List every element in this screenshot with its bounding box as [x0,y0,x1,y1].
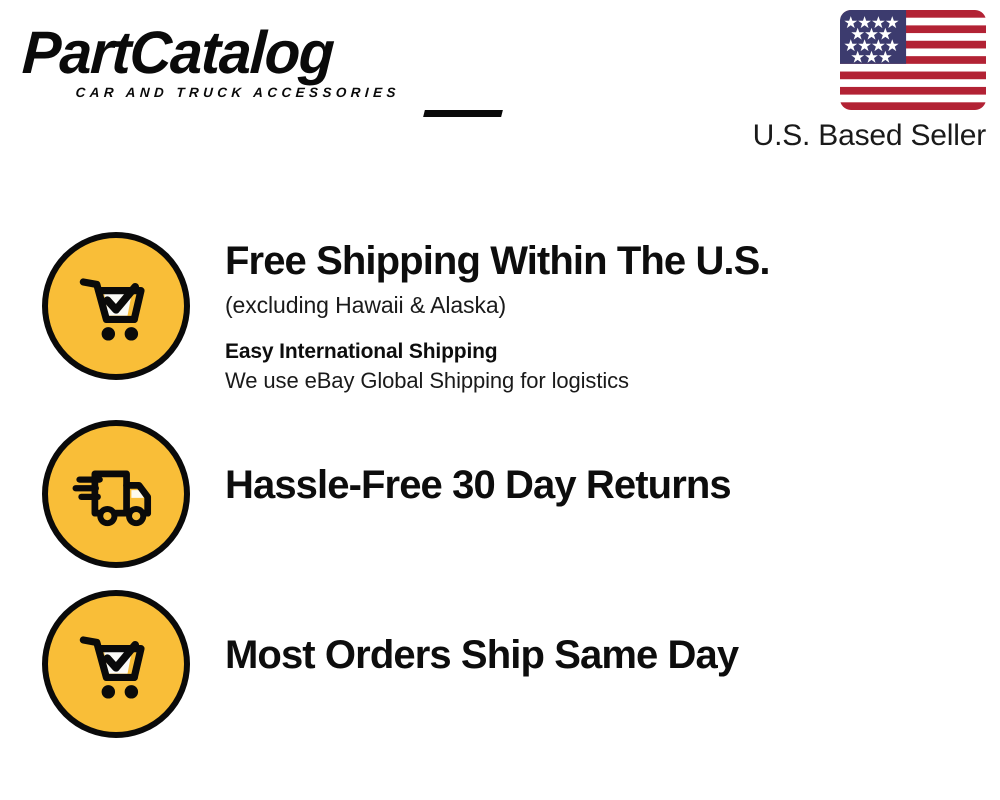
feature-title: Most Orders Ship Same Day [225,632,1000,678]
feature-title: Free Shipping Within The U.S. [225,238,1000,284]
feature-subtitle: (excluding Hawaii & Alaska) [225,290,1000,320]
feature-secondary-heading: Easy International Shipping [225,338,1000,365]
feature-text-block: Most Orders Ship Same Day [190,590,1000,678]
shopping-cart-check-icon [42,590,190,738]
feature-title: Hassle-Free 30 Day Returns [225,462,1000,508]
logo-wordmark: PartCatalog [21,22,480,84]
feature-secondary-text: We use eBay Global Shipping for logistic… [225,366,1000,395]
feature-row: Hassle-Free 30 Day Returns [0,420,1000,568]
us-flag-icon [840,10,986,110]
logo-tagline: CAR AND TRUCK ACCESSORIES [75,85,494,100]
feature-row: Free Shipping Within The U.S. (excluding… [0,232,1000,395]
logo-swoosh-decoration [423,110,503,117]
us-based-seller-label: U.S. Based Seller [753,118,986,154]
delivery-truck-icon [42,420,190,568]
feature-text-block: Free Shipping Within The U.S. (excluding… [190,232,1000,395]
page-header: PartCatalog CAR AND TRUCK ACCESSORIES [0,0,1000,175]
feature-text-block: Hassle-Free 30 Day Returns [190,420,1000,508]
feature-row: Most Orders Ship Same Day [0,590,1000,738]
brand-logo[interactable]: PartCatalog CAR AND TRUCK ACCESSORIES [24,22,494,117]
shopping-cart-check-icon [42,232,190,380]
